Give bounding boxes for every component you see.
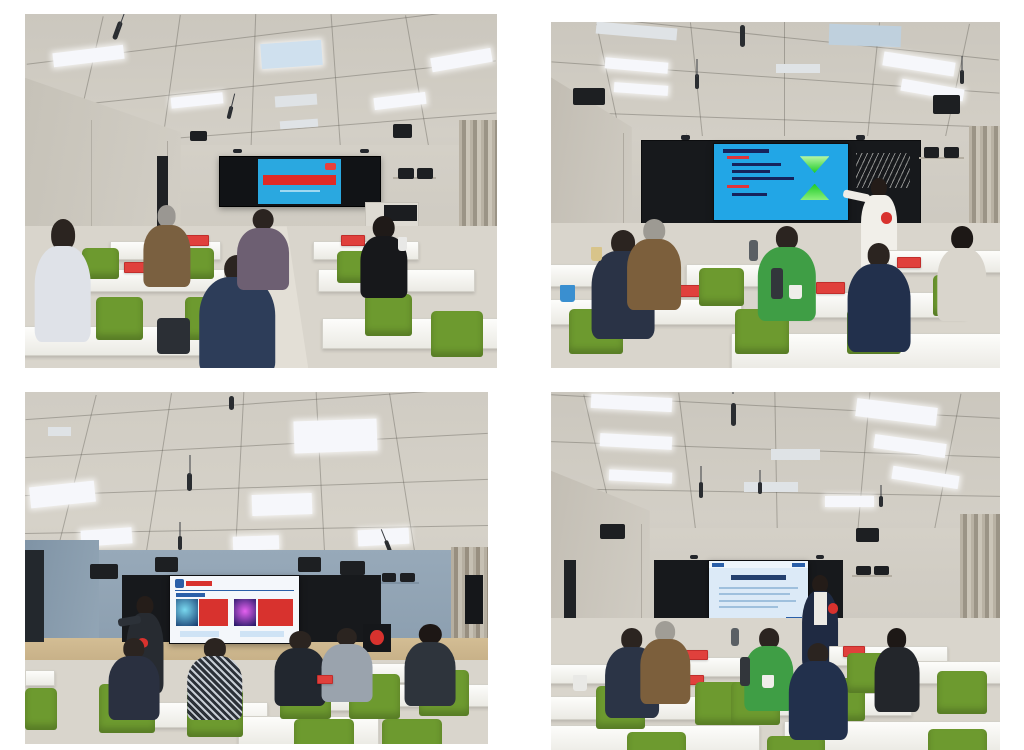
slide-text-line	[719, 587, 798, 589]
bottle	[731, 628, 739, 646]
ceiling-microphone	[229, 396, 234, 410]
attendee	[237, 209, 289, 287]
attendee	[847, 243, 910, 347]
wall-speaker	[856, 528, 878, 542]
scene-top-right	[551, 22, 1000, 368]
ceiling-light	[293, 419, 377, 454]
slide-divider	[175, 590, 294, 591]
ceiling-microphone	[758, 482, 762, 494]
attendee	[360, 216, 407, 294]
ceiling-light	[260, 40, 323, 69]
display-camera	[690, 555, 698, 559]
wall-speaker	[924, 147, 939, 158]
wall-speaker	[944, 147, 959, 158]
scene-bottom-right	[551, 392, 1000, 750]
slide-subtitle	[176, 593, 205, 597]
ceiling-microphone	[731, 403, 736, 426]
ceiling-light	[48, 427, 71, 436]
cone-diagram-top	[800, 156, 830, 173]
ceiling-microphone	[879, 496, 883, 507]
chair	[928, 729, 986, 750]
chair	[25, 688, 57, 730]
attendee	[405, 624, 456, 701]
slide-tab	[792, 563, 805, 568]
cup	[560, 285, 575, 302]
slide-subheading	[727, 185, 749, 188]
name-card	[317, 675, 333, 684]
wall-speaker	[600, 524, 624, 538]
attendee	[34, 219, 91, 339]
attendee	[627, 219, 681, 306]
chair	[699, 268, 744, 306]
chair	[365, 294, 412, 336]
presenter-badge	[828, 603, 839, 614]
bottle	[771, 268, 783, 299]
side-monitor	[465, 575, 484, 624]
attendee	[744, 628, 793, 707]
ceiling-microphone	[178, 536, 182, 550]
display-camera	[233, 149, 242, 153]
ceiling-light	[829, 24, 902, 47]
slide-banner	[263, 175, 336, 185]
slide-content	[714, 144, 849, 220]
cone-diagram-bottom	[800, 184, 830, 201]
chair	[294, 719, 354, 744]
slide-bullet	[732, 163, 780, 166]
ceiling-light	[233, 536, 280, 552]
photo-bottom-left[interactable]	[25, 392, 488, 744]
slide-text-line	[719, 606, 778, 608]
wall-shelf	[377, 582, 419, 584]
slide-footer-left	[180, 631, 219, 637]
wall-speaker	[190, 131, 207, 142]
chair	[431, 311, 483, 357]
attendee	[108, 638, 159, 715]
wall-speaker	[393, 124, 412, 138]
chair	[96, 297, 143, 339]
wall-speaker	[398, 168, 415, 179]
slide-image-right	[234, 599, 256, 626]
wall-speaker	[400, 573, 415, 582]
photo-collage	[0, 0, 1024, 750]
slide-bullet	[732, 193, 767, 196]
presenter-shirt	[814, 592, 827, 624]
slide-logo	[712, 563, 724, 568]
slide-title	[731, 575, 786, 580]
attendee	[321, 628, 372, 698]
bottle	[740, 657, 751, 686]
wall-speaker	[382, 573, 397, 582]
slide-subtitle	[280, 190, 320, 192]
ceiling-microphone	[699, 482, 703, 498]
attendee	[937, 226, 986, 316]
ceiling-light	[744, 482, 798, 493]
photo-top-right[interactable]	[551, 22, 1000, 368]
attendee	[275, 631, 326, 701]
wall-speaker	[573, 88, 604, 105]
wall-speaker	[298, 557, 321, 571]
cup	[398, 237, 407, 251]
slide-textblock-left	[199, 599, 228, 626]
chair	[937, 671, 986, 714]
photo-top-left[interactable]	[25, 14, 497, 368]
slide-text-line	[719, 593, 790, 595]
cup	[762, 675, 774, 688]
attendee	[874, 628, 919, 707]
cup	[573, 675, 586, 691]
slide-textblock-right	[258, 599, 293, 626]
presenter-badge	[881, 212, 893, 224]
slide-content	[258, 159, 341, 205]
chair	[382, 719, 442, 744]
wall-speaker	[340, 561, 365, 575]
slide-bullet	[732, 177, 794, 180]
attendee	[789, 643, 847, 736]
wall-speaker	[933, 95, 960, 114]
bottle	[749, 240, 758, 261]
scene-top-left	[25, 14, 497, 368]
attendee	[641, 621, 690, 700]
attendee	[143, 205, 190, 283]
ceiling-light	[252, 493, 313, 516]
ceiling-light	[825, 496, 874, 507]
cup	[789, 285, 802, 299]
name-card	[816, 282, 845, 294]
doorway	[564, 560, 576, 624]
slide-logo	[175, 579, 184, 588]
ceiling-microphone	[187, 473, 192, 491]
slide-subheading	[727, 156, 749, 159]
display-camera	[681, 135, 690, 140]
wall-speaker	[856, 566, 870, 575]
photo-bottom-right[interactable]	[551, 392, 1000, 750]
display-camera	[856, 135, 865, 140]
slide-title	[186, 581, 212, 586]
wall-speaker	[417, 168, 434, 179]
chair	[627, 732, 685, 750]
backpack	[157, 318, 190, 353]
slide-bullet	[732, 170, 770, 173]
display-camera	[816, 555, 824, 559]
classroom-display[interactable]	[713, 143, 850, 221]
slide-heading	[723, 149, 769, 153]
ceiling-microphone	[960, 70, 964, 84]
desk	[25, 670, 55, 686]
slide-logo	[325, 163, 337, 170]
attendee	[758, 226, 816, 316]
ceiling-microphone	[740, 25, 745, 47]
ceiling-light	[771, 449, 820, 460]
wall-speaker	[874, 566, 888, 575]
wall-speaker	[90, 564, 118, 578]
wall-speaker	[155, 557, 178, 571]
classroom-display[interactable]	[219, 156, 381, 208]
doorway	[25, 550, 44, 642]
ceiling-light	[776, 64, 821, 73]
display-camera	[360, 149, 369, 153]
scene-bottom-left	[25, 392, 488, 744]
slide-content	[709, 561, 808, 625]
ceiling-microphone	[695, 74, 699, 89]
cup	[591, 247, 602, 261]
slide-image-left	[176, 599, 198, 626]
attendee	[187, 638, 243, 715]
slide-text-line	[719, 600, 796, 602]
